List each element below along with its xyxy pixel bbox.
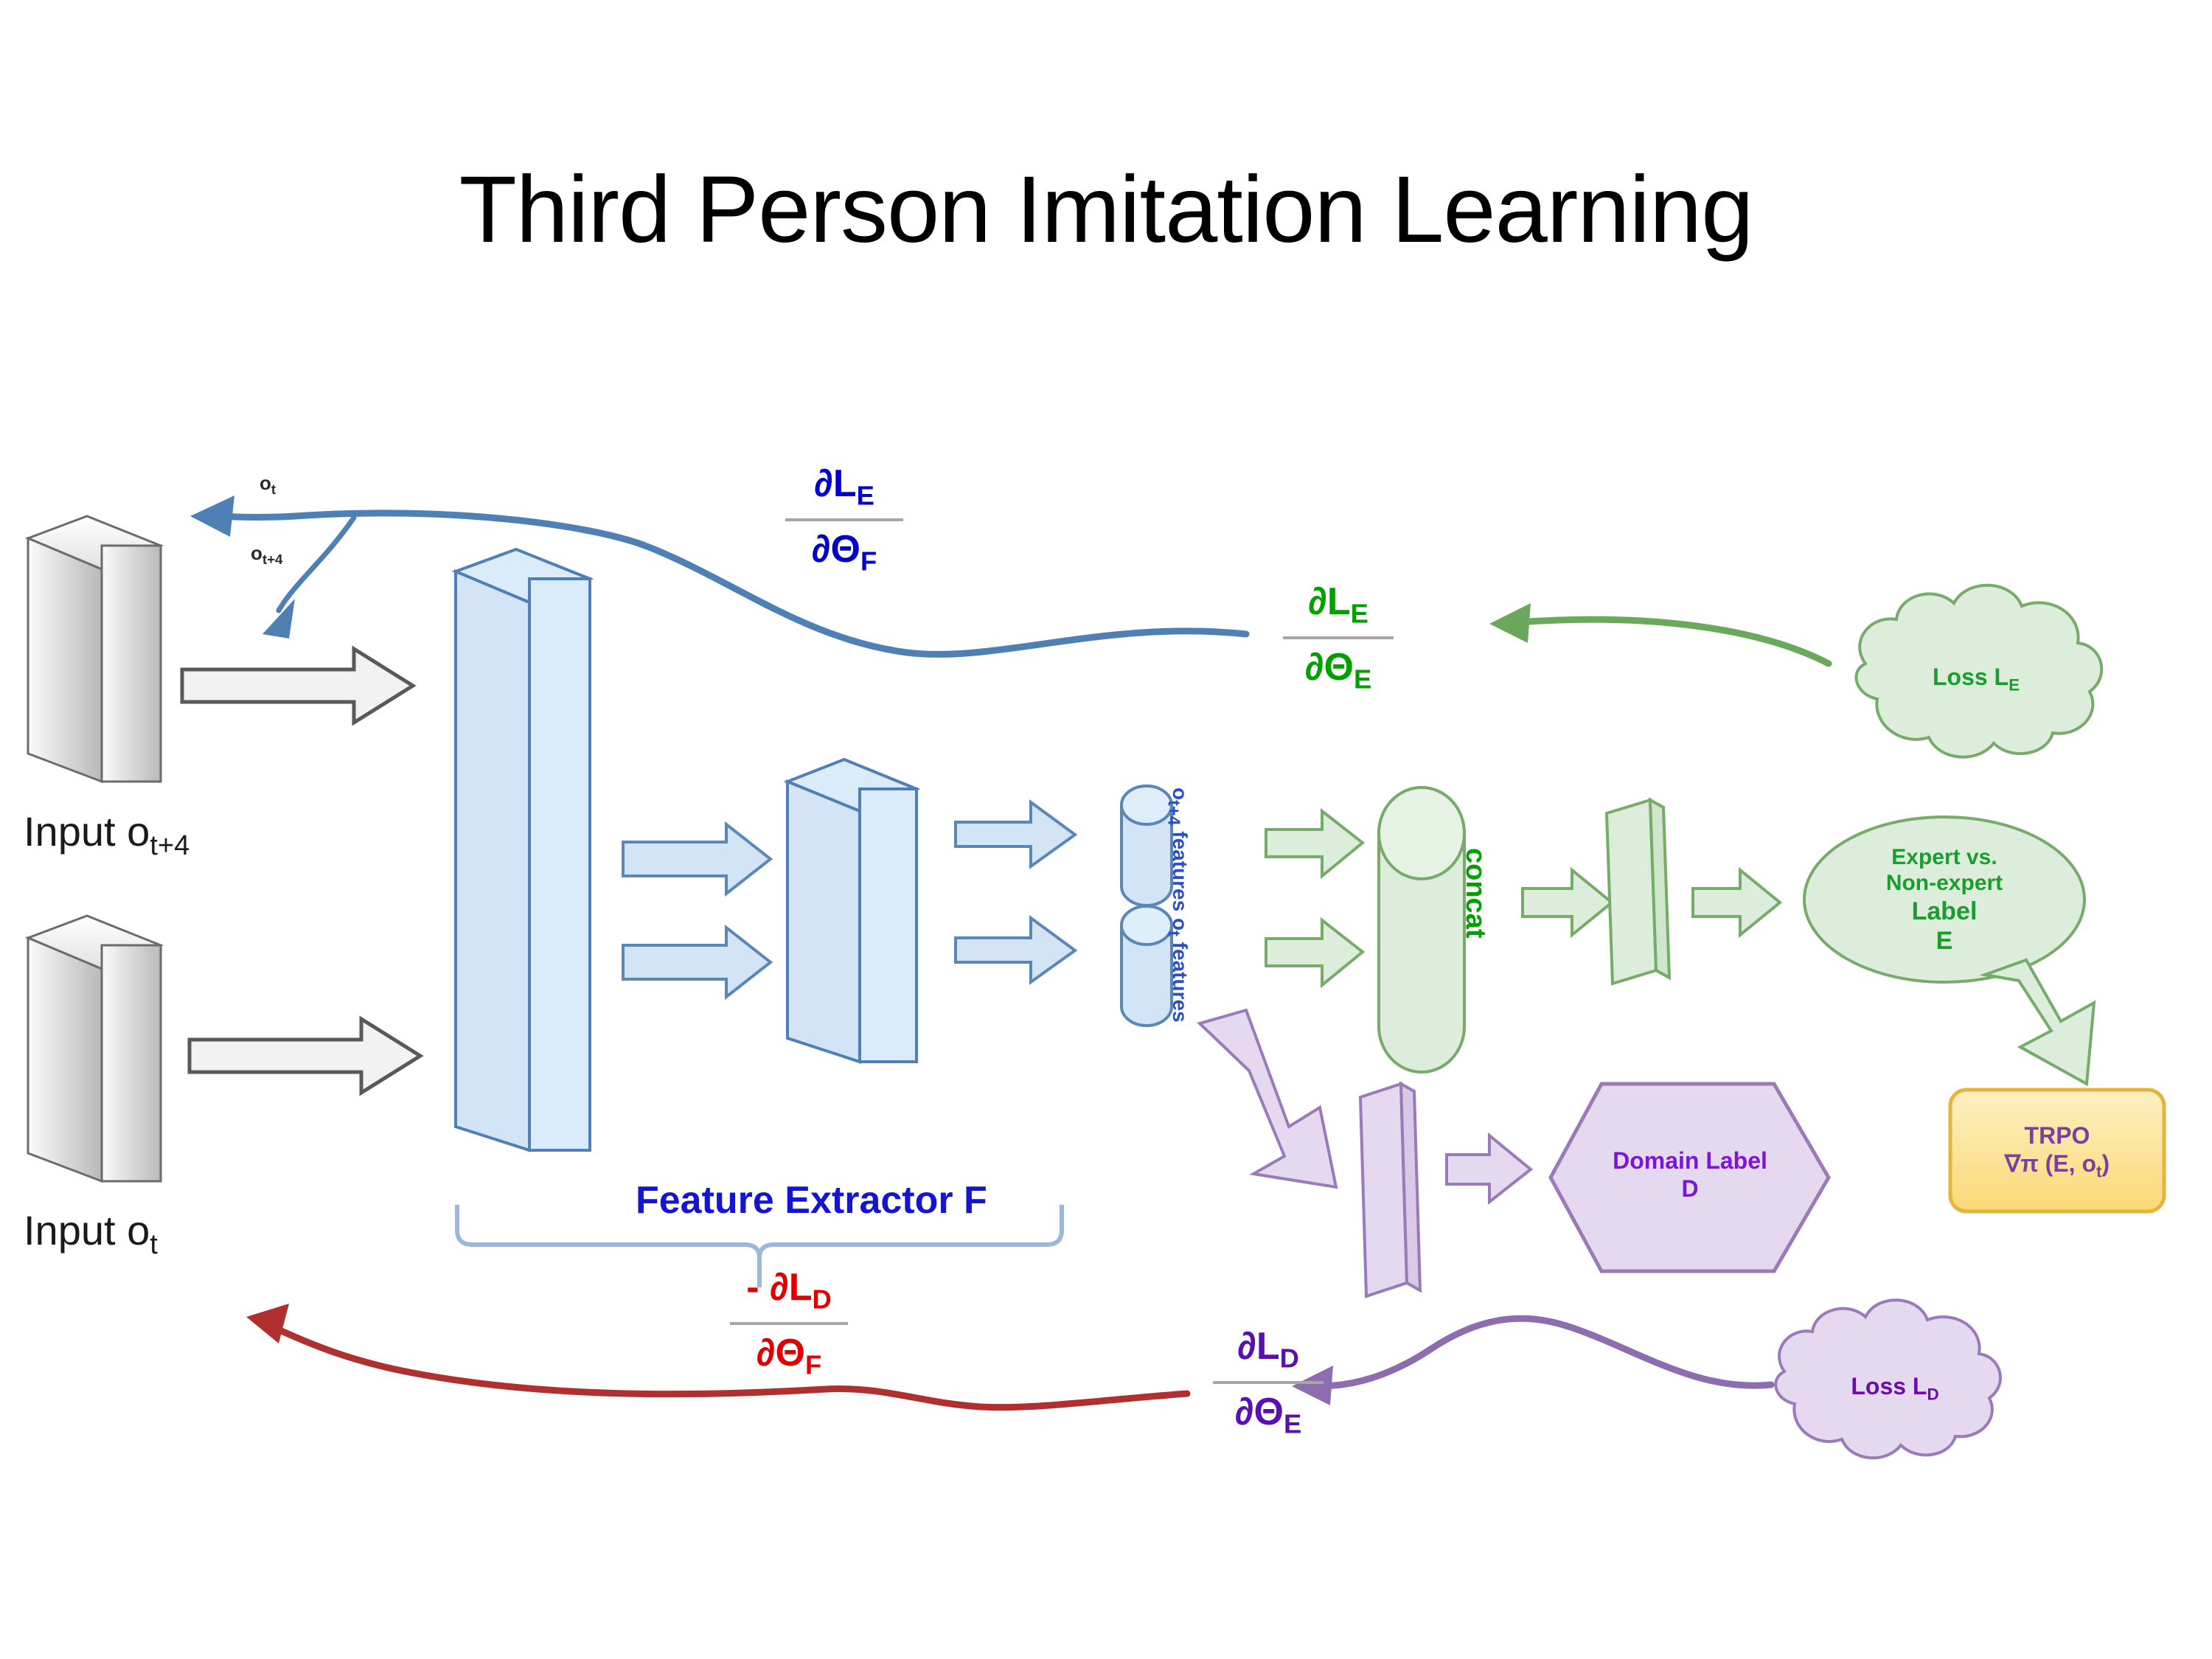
domain-line-2: D bbox=[1550, 1175, 1830, 1203]
purple-domain-plane bbox=[1360, 1084, 1420, 1296]
gradient-blue-le-thetaf: ∂LE ∂ΘF bbox=[752, 465, 936, 575]
fe-arrow-bottom-1-icon bbox=[623, 928, 771, 997]
green-classifier-plane bbox=[1607, 800, 1669, 984]
concat-arrow-top-icon bbox=[1266, 811, 1363, 876]
trpo-line-1: TRPO bbox=[1950, 1122, 2164, 1150]
expert-line-4: E bbox=[1804, 926, 2084, 956]
fe-arrow-top-1-icon bbox=[623, 824, 771, 894]
green-arrow-to-trpo-icon bbox=[1985, 960, 2094, 1084]
green-arrow-to-ellipse-icon bbox=[1693, 870, 1780, 935]
input-label-bottom: Input ot bbox=[24, 1206, 158, 1261]
diagram-canvas bbox=[0, 0, 2212, 1659]
cylinder-label-top: ot+4 features bbox=[1164, 787, 1192, 911]
fe-arrow-bottom-2-icon bbox=[956, 918, 1075, 982]
expert-line-2: Non-expert bbox=[1804, 870, 2084, 896]
obs-label-bottom: ot+4 bbox=[251, 542, 282, 568]
domain-line-1: Domain Label bbox=[1550, 1147, 1830, 1175]
purple-bent-arrow-icon bbox=[1200, 1010, 1336, 1187]
expert-line-1: Expert vs. bbox=[1804, 844, 2084, 870]
loss-e-label: Loss LE bbox=[1873, 664, 2079, 695]
trpo-label-text: TRPO ∇π (E, ot) bbox=[1950, 1122, 2164, 1182]
concat-label: concat bbox=[1459, 848, 1491, 938]
gradient-green-le-thetae: ∂LE ∂ΘE bbox=[1246, 582, 1430, 693]
loss-d-label: Loss LD bbox=[1792, 1373, 1998, 1405]
expert-label-text: Expert vs. Non-expert Label E bbox=[1804, 844, 2084, 956]
backprop-curve-blue bbox=[190, 495, 1246, 654]
gradient-purple-ld-thetae: ∂LD ∂ΘE bbox=[1172, 1327, 1364, 1438]
input-cuboid-bottom bbox=[28, 916, 161, 1181]
input-cuboid-top bbox=[28, 516, 161, 782]
fe-arrow-top-2-icon bbox=[956, 802, 1075, 866]
gradient-red-ld-thetaf: - ∂LD ∂ΘF bbox=[686, 1268, 892, 1379]
concat-cylinder bbox=[1379, 787, 1464, 1072]
trpo-line-2: ∇π (E, ot) bbox=[1950, 1150, 2164, 1182]
input-label-top: Input ot+4 bbox=[24, 807, 189, 862]
loss-e-to-grad-arrow bbox=[1489, 603, 1829, 664]
input-arrow-top-icon bbox=[182, 649, 413, 723]
concat-arrow-bottom-icon bbox=[1266, 920, 1363, 985]
feature-extractor-label: Feature Extractor F bbox=[636, 1178, 987, 1222]
cylinder-label-bottom: ot features bbox=[1164, 918, 1192, 1023]
obs-label-top: ot bbox=[260, 472, 276, 498]
input-arrow-bottom-icon bbox=[189, 1019, 420, 1093]
slide-canvas: Third Person Imitation Learning bbox=[0, 0, 2212, 1659]
green-arrow-to-plane-icon bbox=[1523, 870, 1612, 935]
purple-arrow-to-hex-icon bbox=[1447, 1135, 1531, 1202]
fe-layer-1-cuboid bbox=[456, 549, 590, 1150]
fe-layer-2-cuboid bbox=[787, 759, 917, 1062]
domain-label-text: Domain Label D bbox=[1550, 1147, 1830, 1203]
expert-line-3: Label bbox=[1804, 897, 2084, 926]
